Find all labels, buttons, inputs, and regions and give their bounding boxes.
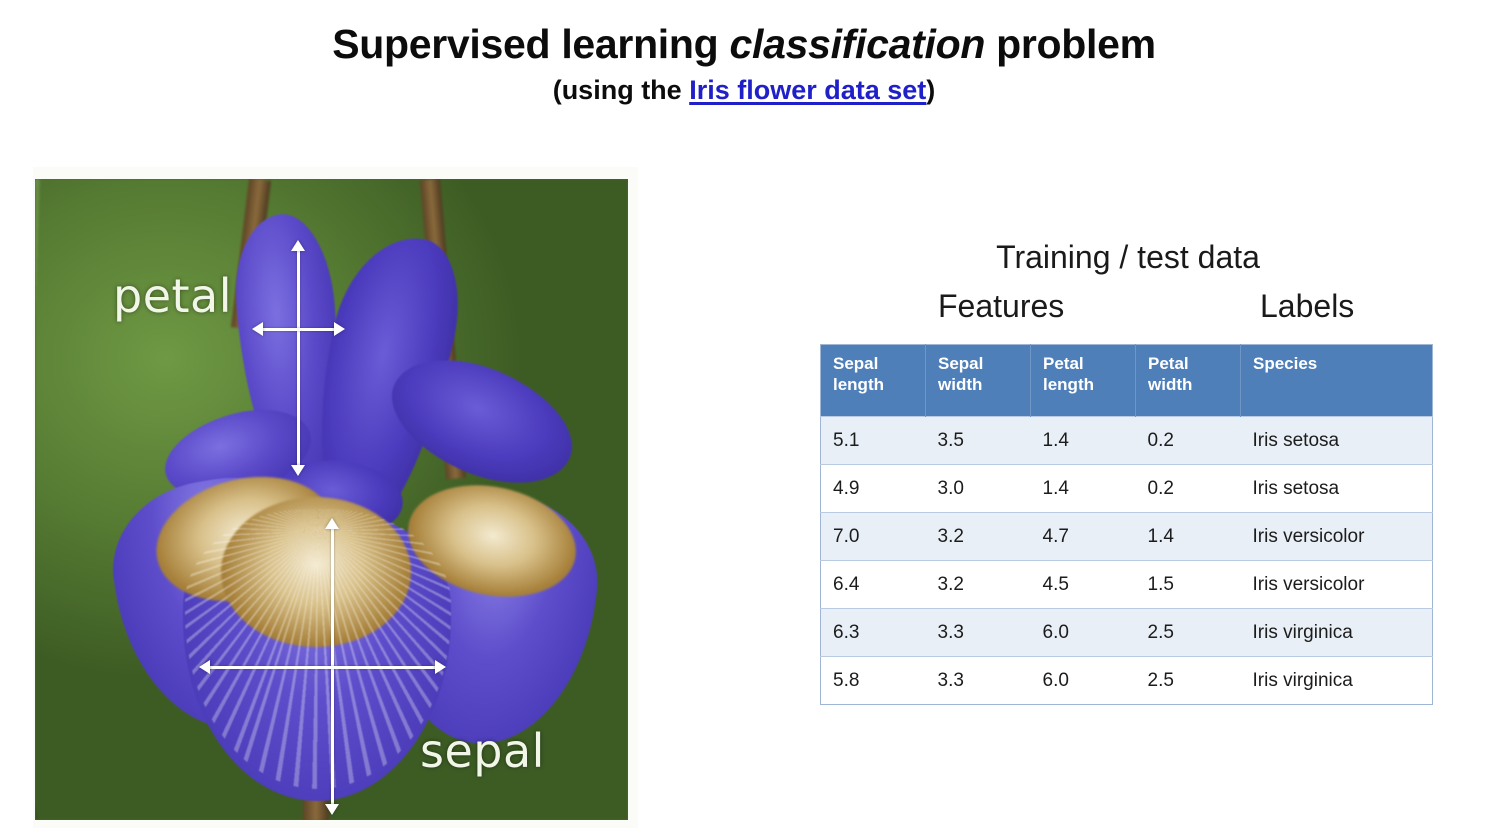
iris-data-table: Sepal length Sepal width Petal length Pe… <box>820 344 1433 705</box>
title-part-3: problem <box>985 21 1156 67</box>
cell-sepal-length: 7.0 <box>821 513 926 561</box>
column-header-petal-length[interactable]: Petal length <box>1031 345 1136 417</box>
header-line-2: width <box>938 375 1030 396</box>
cell-petal-length: 1.4 <box>1031 417 1136 465</box>
title-block: Supervised learning classification probl… <box>0 22 1488 106</box>
petal-width-arrow-head-left <box>252 322 263 336</box>
cell-petal-width: 1.5 <box>1136 561 1241 609</box>
labels-heading: Labels <box>1260 288 1354 325</box>
cell-sepal-width: 3.5 <box>926 417 1031 465</box>
table-row[interactable]: 6.4 3.2 4.5 1.5 Iris versicolor <box>821 561 1433 609</box>
header-line-2: length <box>1043 375 1135 396</box>
header-line-2: width <box>1148 375 1240 396</box>
cell-species: Iris versicolor <box>1241 561 1433 609</box>
table-row[interactable]: 5.8 3.3 6.0 2.5 Iris virginica <box>821 657 1433 705</box>
column-header-petal-width[interactable]: Petal width <box>1136 345 1241 417</box>
sepal-length-arrow-head-bottom <box>325 804 339 815</box>
page-subtitle: (using the Iris flower data set) <box>0 75 1488 106</box>
subtitle-prefix: (using the <box>553 75 690 105</box>
cell-petal-length: 1.4 <box>1031 465 1136 513</box>
cell-petal-length: 4.7 <box>1031 513 1136 561</box>
training-test-data-panel: Training / test data Features Labels Sep… <box>820 238 1432 705</box>
column-header-sepal-width[interactable]: Sepal width <box>926 345 1031 417</box>
sepal-width-arrow-head-left <box>199 660 210 674</box>
training-test-data-heading: Training / test data <box>848 238 1408 276</box>
header-line-1: Sepal <box>833 354 925 375</box>
cell-sepal-width: 3.2 <box>926 561 1031 609</box>
title-emphasis: classification <box>729 21 985 67</box>
sepal-label: sepal <box>420 724 545 778</box>
cell-species: Iris versicolor <box>1241 513 1433 561</box>
cell-petal-width: 2.5 <box>1136 657 1241 705</box>
table-header: Sepal length Sepal width Petal length Pe… <box>821 345 1433 417</box>
iris-dataset-link[interactable]: Iris flower data set <box>689 75 926 105</box>
page-title: Supervised learning classification probl… <box>0 22 1488 68</box>
header-line-1: Petal <box>1148 354 1240 375</box>
cell-sepal-width: 3.3 <box>926 657 1031 705</box>
table-row[interactable]: 5.1 3.5 1.4 0.2 Iris setosa <box>821 417 1433 465</box>
petal-label: petal <box>113 269 232 323</box>
petal-width-arrow-line <box>263 328 335 331</box>
iris-flower-photo: petal sepal <box>35 179 628 820</box>
iris-flower-figure: petal sepal <box>33 167 638 828</box>
header-line-1: Petal <box>1043 354 1135 375</box>
cell-petal-width: 1.4 <box>1136 513 1241 561</box>
column-header-sepal-length[interactable]: Sepal length <box>821 345 926 417</box>
table-row[interactable]: 7.0 3.2 4.7 1.4 Iris versicolor <box>821 513 1433 561</box>
petal-width-arrow-head-right <box>334 322 345 336</box>
table-header-row: Sepal length Sepal width Petal length Pe… <box>821 345 1433 417</box>
column-group-headings: Features Labels <box>820 288 1432 334</box>
header-line-2: length <box>833 375 925 396</box>
sepal-width-arrow-head-right <box>435 660 446 674</box>
cell-petal-length: 6.0 <box>1031 609 1136 657</box>
cell-petal-length: 6.0 <box>1031 657 1136 705</box>
cell-sepal-width: 3.2 <box>926 513 1031 561</box>
cell-sepal-length: 4.9 <box>821 465 926 513</box>
cell-sepal-width: 3.3 <box>926 609 1031 657</box>
sepal-length-arrow-head-top <box>325 518 339 529</box>
cell-sepal-width: 3.0 <box>926 465 1031 513</box>
cell-sepal-length: 6.3 <box>821 609 926 657</box>
petal-length-arrow-head-top <box>291 240 305 251</box>
petal-length-arrow-head-bottom <box>291 465 305 476</box>
cell-sepal-length: 6.4 <box>821 561 926 609</box>
header-line-1: Species <box>1253 354 1432 375</box>
features-heading: Features <box>938 288 1064 325</box>
cell-sepal-length: 5.8 <box>821 657 926 705</box>
title-part-1: Supervised learning <box>332 21 729 67</box>
table-row[interactable]: 6.3 3.3 6.0 2.5 Iris virginica <box>821 609 1433 657</box>
cell-species: Iris virginica <box>1241 609 1433 657</box>
cell-species: Iris virginica <box>1241 657 1433 705</box>
cell-petal-width: 2.5 <box>1136 609 1241 657</box>
cell-petal-length: 4.5 <box>1031 561 1136 609</box>
table-body: 5.1 3.5 1.4 0.2 Iris setosa 4.9 3.0 1.4 … <box>821 417 1433 705</box>
cell-species: Iris setosa <box>1241 465 1433 513</box>
table-row[interactable]: 4.9 3.0 1.4 0.2 Iris setosa <box>821 465 1433 513</box>
column-header-species[interactable]: Species <box>1241 345 1433 417</box>
subtitle-suffix: ) <box>926 75 935 105</box>
cell-species: Iris setosa <box>1241 417 1433 465</box>
cell-sepal-length: 5.1 <box>821 417 926 465</box>
sepal-width-arrow-line <box>210 666 436 669</box>
cell-petal-width: 0.2 <box>1136 465 1241 513</box>
header-line-1: Sepal <box>938 354 1030 375</box>
cell-petal-width: 0.2 <box>1136 417 1241 465</box>
petal-length-arrow-line <box>297 251 300 467</box>
